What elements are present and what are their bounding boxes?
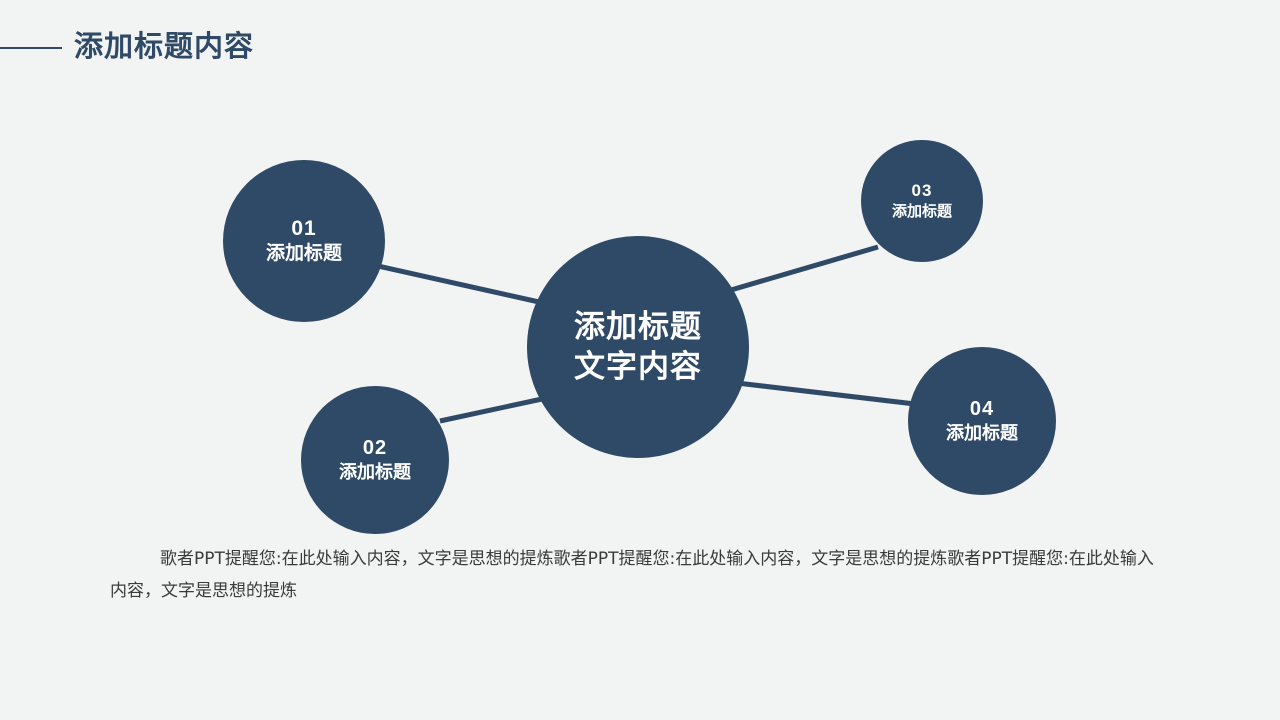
node-03-number: 03	[912, 182, 933, 200]
connector-01-to-center	[378, 266, 548, 304]
diagram-node-03[interactable]: 03 添加标题	[861, 140, 983, 262]
diagram-node-02[interactable]: 02 添加标题	[301, 386, 449, 534]
center-title-line-1: 添加标题	[574, 307, 702, 347]
diagram-node-center[interactable]: 添加标题 文字内容	[527, 236, 749, 458]
node-03-caption: 添加标题	[892, 203, 952, 220]
hub-and-spoke-diagram: 添加标题 文字内容 01 添加标题 02 添加标题 03 添加标题 04 添加标…	[0, 0, 1280, 560]
node-02-caption: 添加标题	[339, 462, 411, 483]
slide-canvas: 添加标题内容 添加标题 文字内容 01 添加标题 02 添加标题 03 添加标题…	[0, 0, 1280, 720]
diagram-node-01[interactable]: 01 添加标题	[223, 160, 385, 322]
node-01-number: 01	[291, 218, 316, 240]
connector-center-to-03	[731, 247, 878, 290]
diagram-node-04[interactable]: 04 添加标题	[908, 347, 1056, 495]
node-04-number: 04	[970, 399, 994, 420]
node-01-caption: 添加标题	[266, 243, 342, 265]
connector-02-to-center	[440, 396, 556, 421]
center-title-line-2: 文字内容	[574, 347, 702, 387]
connector-center-to-04	[737, 383, 915, 404]
node-04-caption: 添加标题	[946, 423, 1018, 444]
body-paragraph: 歌者PPT提醒您:在此处输入内容，文字是思想的提炼歌者PPT提醒您:在此处输入内…	[110, 543, 1170, 607]
node-02-number: 02	[363, 438, 387, 459]
